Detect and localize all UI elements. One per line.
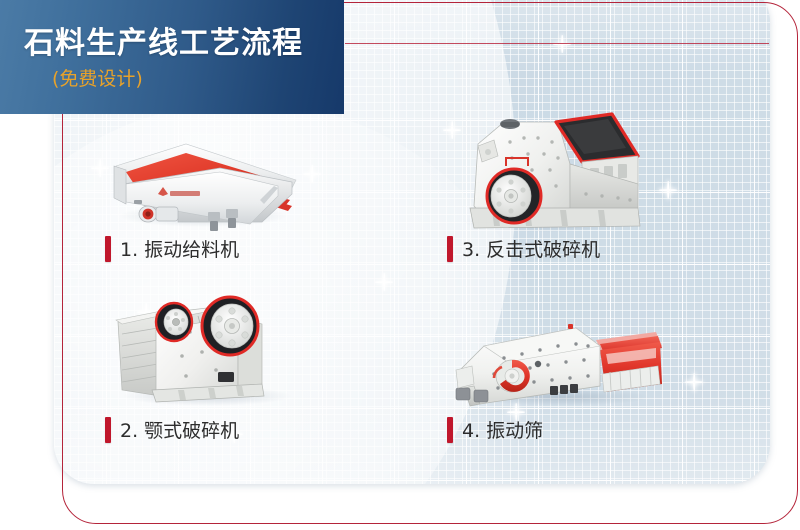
- machine-vibrating-screen: [450, 292, 665, 412]
- label-item-2: 2. 颚式破碎机: [105, 416, 239, 443]
- label-marker-bar: [447, 236, 453, 262]
- title-banner: 石料生产线工艺流程 (免费设计): [0, 0, 344, 114]
- label-item-4: 4. 振动筛: [447, 416, 543, 443]
- machine-jaw-crusher: [112, 278, 302, 403]
- header-divider-line: [345, 43, 769, 44]
- page-subtitle: (免费设计): [52, 64, 143, 91]
- label-item-1: 1. 振动给料机: [105, 235, 239, 262]
- label-item-4-text: 4. 振动筛: [462, 416, 543, 443]
- label-marker-bar: [447, 417, 453, 443]
- label-marker-bar: [105, 236, 111, 262]
- machine-impact-crusher: [452, 108, 647, 236]
- poster-stage: 1. 振动给料机: [0, 0, 800, 530]
- label-item-2-text: 2. 颚式破碎机: [120, 416, 239, 443]
- label-item-3: 3. 反击式破碎机: [447, 235, 600, 262]
- machine-vibrating-feeder: [100, 122, 300, 232]
- label-item-1-text: 1. 振动给料机: [120, 235, 239, 262]
- label-item-3-text: 3. 反击式破碎机: [462, 235, 600, 262]
- label-marker-bar: [105, 417, 111, 443]
- page-title: 石料生产线工艺流程: [24, 18, 303, 62]
